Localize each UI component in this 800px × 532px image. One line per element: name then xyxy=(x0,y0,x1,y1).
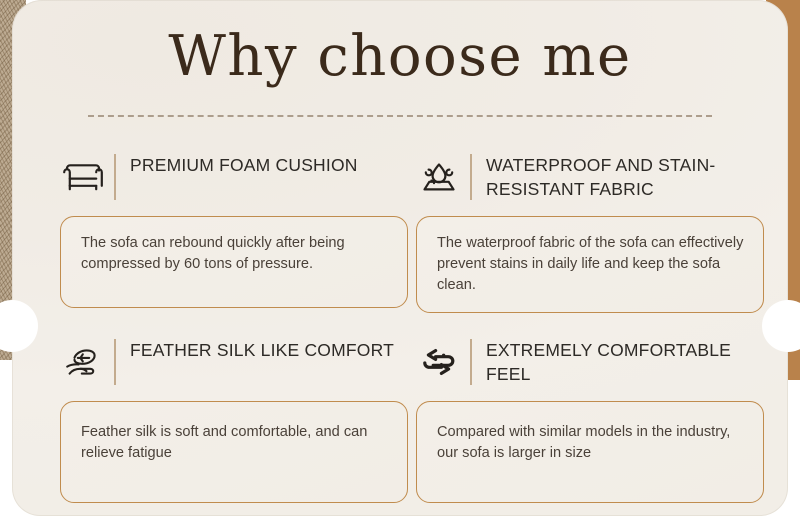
feature-title: WATERPROOF AND STAIN-RESISTANT FABRIC xyxy=(486,152,764,201)
feature-header: EXTREMELY COMFORTABLE FEEL xyxy=(416,337,764,393)
feature-description: The waterproof fabric of the sofa can ef… xyxy=(437,233,745,296)
feature-description-box: Feather silk is soft and comfortable, an… xyxy=(60,401,408,503)
page-title: Why choose me xyxy=(12,20,788,94)
feature-description: Compared with similar models in the indu… xyxy=(437,422,745,464)
feature-description-box: The waterproof fabric of the sofa can ef… xyxy=(416,216,764,313)
feature-extremely-comfortable-feel: EXTREMELY COMFORTABLE FEEL Compared with… xyxy=(416,337,764,503)
feature-description-box: The sofa can rebound quickly after being… xyxy=(60,216,408,308)
feature-feather-silk-comfort: FEATHER SILK LIKE COMFORT Feather silk i… xyxy=(60,337,408,503)
header-divider xyxy=(114,339,116,385)
promo-banner: Why choose me xyxy=(0,0,800,532)
feature-title: PREMIUM FOAM CUSHION xyxy=(130,152,358,177)
header-divider xyxy=(470,339,472,385)
feature-header: PREMIUM FOAM CUSHION xyxy=(60,152,408,208)
feature-description-box: Compared with similar models in the indu… xyxy=(416,401,764,503)
feather-in-hand-icon xyxy=(60,339,106,385)
header-divider xyxy=(114,154,116,200)
water-droplet-repel-icon xyxy=(416,154,462,200)
feature-header: FEATHER SILK LIKE COMFORT xyxy=(60,337,408,393)
feature-premium-foam-cushion: PREMIUM FOAM CUSHION The sofa can reboun… xyxy=(60,152,408,313)
card-notch-left xyxy=(0,300,38,352)
feature-title: EXTREMELY COMFORTABLE FEEL xyxy=(486,337,764,386)
two-way-arrow-icon xyxy=(416,339,462,385)
feature-description: The sofa can rebound quickly after being… xyxy=(81,233,389,275)
dashed-divider xyxy=(88,115,712,117)
feature-grid: PREMIUM FOAM CUSHION The sofa can reboun… xyxy=(60,152,760,503)
feature-header: WATERPROOF AND STAIN-RESISTANT FABRIC xyxy=(416,152,764,208)
card-notch-right xyxy=(762,300,800,352)
feature-description: Feather silk is soft and comfortable, an… xyxy=(81,422,389,464)
feature-waterproof-fabric: WATERPROOF AND STAIN-RESISTANT FABRIC Th… xyxy=(416,152,764,313)
content-card: Why choose me xyxy=(12,0,788,516)
feature-title: FEATHER SILK LIKE COMFORT xyxy=(130,337,394,362)
header-divider xyxy=(470,154,472,200)
sofa-icon xyxy=(60,154,106,200)
